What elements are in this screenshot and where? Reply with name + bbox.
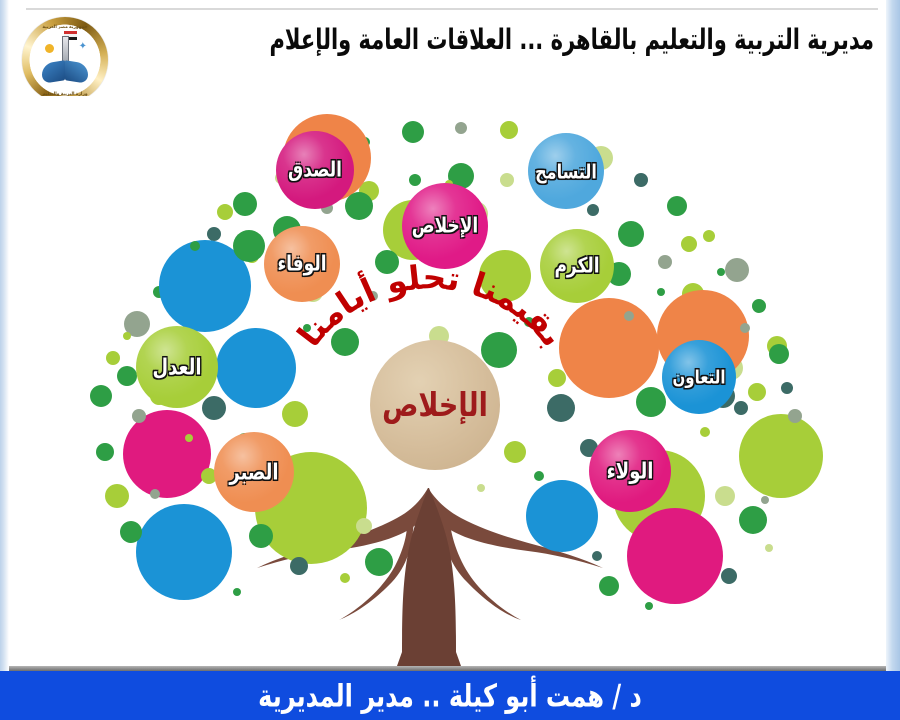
poster-header: جمهورية مصر العربية وزارة التربية والتعل… [0, 0, 900, 96]
value-bubble[interactable]: الولاء [589, 430, 671, 512]
value-bubble-label: التعاون [672, 366, 725, 389]
sparkle-icon: ✦ [75, 42, 87, 54]
value-bubble[interactable]: الإخلاص [402, 183, 488, 269]
value-bubble-label: الصبر [229, 459, 278, 485]
value-bubble-label: الإخلاص [412, 214, 479, 239]
value-bubble[interactable]: الكرم [540, 229, 614, 303]
page-title: مديرية التربية والتعليم بالقاهرة ... الع… [254, 22, 874, 59]
value-bubble-label: العدل [152, 354, 201, 380]
value-bubble[interactable]: التعاون [662, 340, 736, 414]
frame-border-left [0, 0, 9, 672]
ministry-logo: جمهورية مصر العربية وزارة التربية والتعل… [22, 17, 108, 103]
core-circle: الإخلاص [370, 340, 500, 470]
value-bubble-label: الوفاء [277, 252, 326, 277]
value-bubble[interactable]: التسامح [528, 133, 604, 209]
footer-banner: د / همت أبو كيلة .. مدير المديرية [0, 671, 900, 720]
sun-icon [45, 44, 54, 53]
core-label: الإخلاص [382, 386, 488, 424]
value-bubble[interactable]: العدل [136, 326, 218, 408]
frame-border-right [886, 0, 900, 672]
logo-inner-disc: ✦ [33, 28, 97, 92]
value-bubble-label: التسامح [535, 159, 597, 183]
value-bubble-label: الصدق [288, 158, 342, 183]
footer-text: د / همت أبو كيلة .. مدير المديرية [258, 677, 642, 713]
value-bubble[interactable]: الصبر [214, 432, 294, 512]
value-bubble[interactable]: الصدق [276, 131, 354, 209]
value-bubble-label: الولاء [607, 458, 654, 484]
header-divider [26, 8, 878, 10]
poster-root: جمهورية مصر العربية وزارة التربية والتعل… [0, 0, 900, 720]
open-book-icon [42, 62, 88, 84]
value-bubble-label: الكرم [554, 254, 599, 279]
value-bubble[interactable]: الوفاء [264, 226, 340, 302]
